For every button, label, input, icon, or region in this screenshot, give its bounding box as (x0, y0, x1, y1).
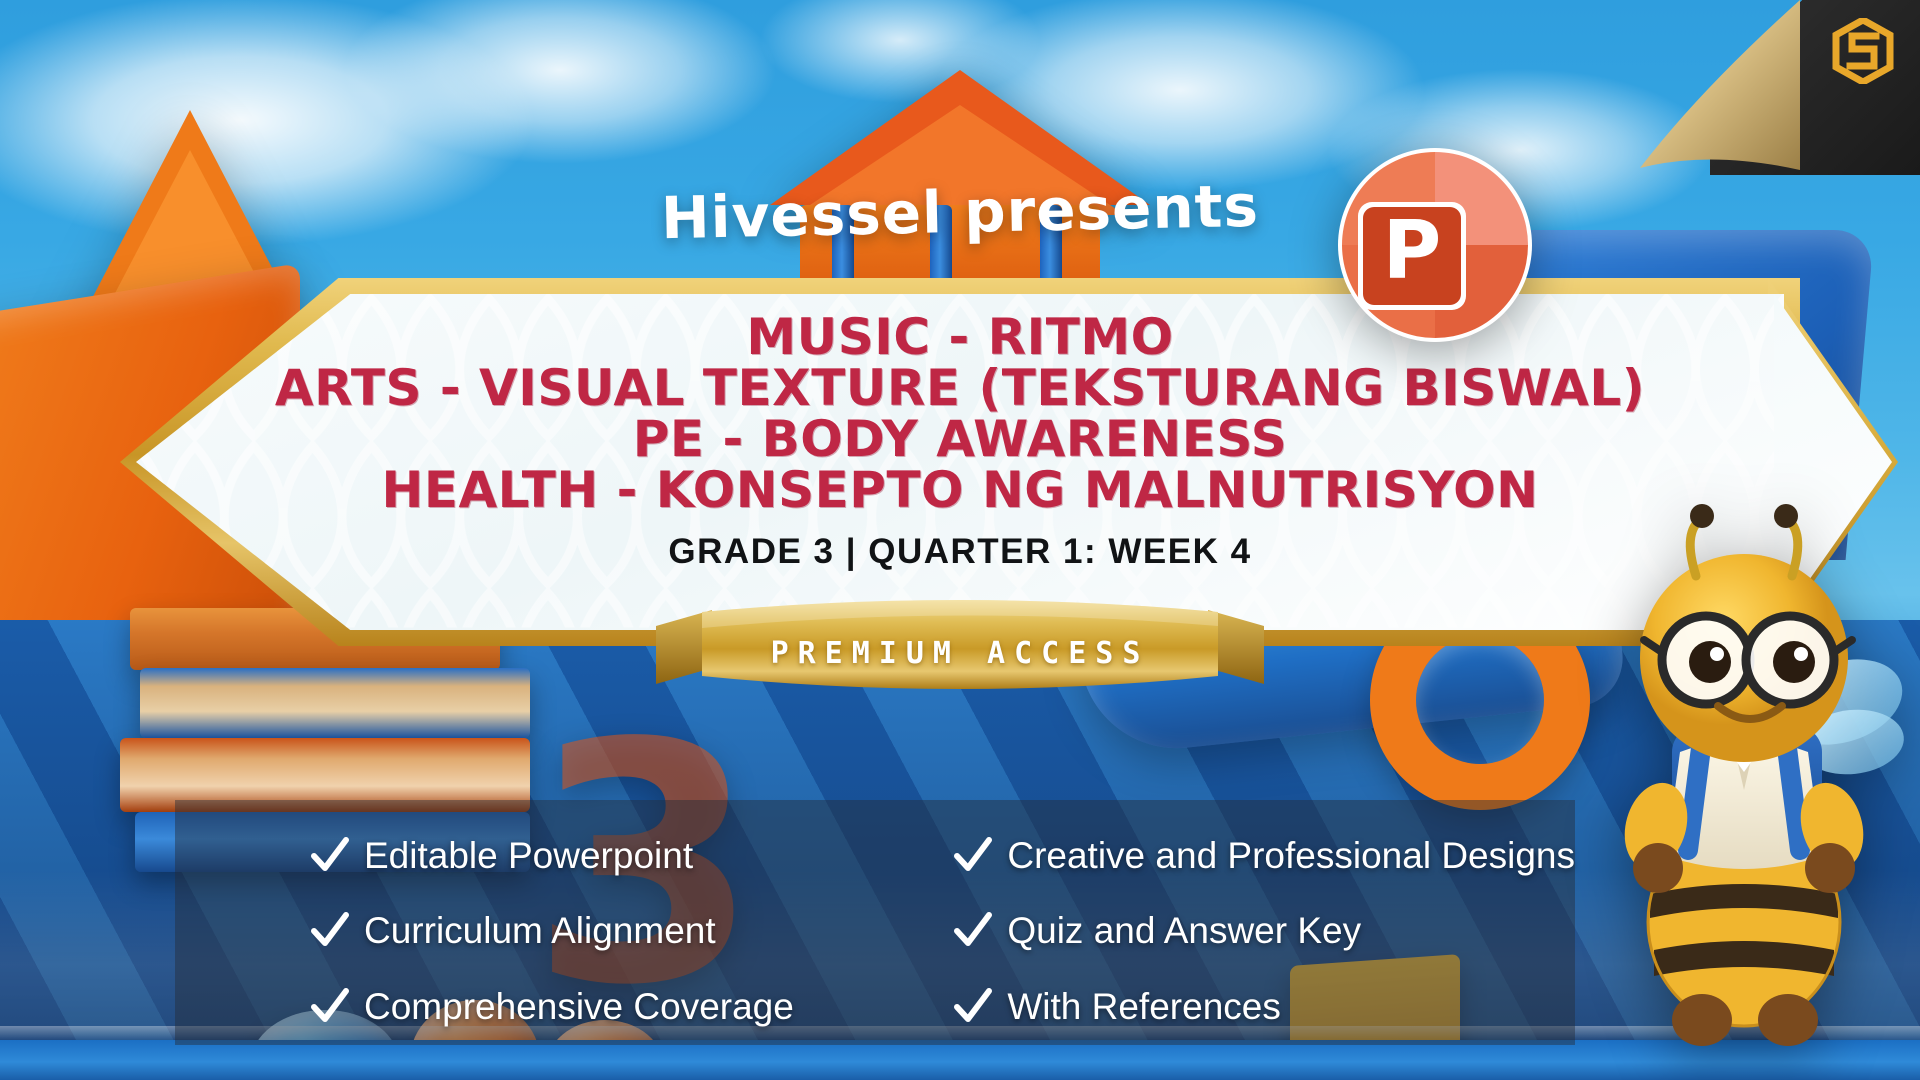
check-icon (310, 911, 350, 951)
feature-label: Quiz and Answer Key (1007, 910, 1361, 952)
page-curl-decor (1640, 0, 1800, 170)
feature-item: Curriculum Alignment (310, 900, 923, 962)
features-column-left: Editable Powerpoint Curriculum Alignment… (175, 800, 923, 1045)
title-line-arts: ARTS - VISUAL TEXTURE (TEKSTURANG BISWAL… (120, 363, 1800, 414)
book-decor (140, 668, 530, 738)
hexagon-s-logo-icon (1832, 18, 1894, 84)
features-panel: Editable Powerpoint Curriculum Alignment… (175, 800, 1575, 1045)
features-column-right: Creative and Professional Designs Quiz a… (923, 800, 1575, 1045)
feature-item: Comprehensive Coverage (310, 976, 923, 1038)
check-icon (953, 987, 993, 1027)
feature-item: Creative and Professional Designs (953, 825, 1575, 887)
check-icon (953, 911, 993, 951)
title-line-music: MUSIC - RITMO (120, 312, 1800, 363)
grade-quarter-subtitle: GRADE 3 | QUARTER 1: WEEK 4 (120, 532, 1800, 572)
main-banner: MUSIC - RITMO ARTS - VISUAL TEXTURE (TEK… (120, 278, 1800, 646)
feature-item: Editable Powerpoint (310, 825, 923, 887)
feature-label: Curriculum Alignment (364, 910, 716, 952)
feature-label: Comprehensive Coverage (364, 986, 794, 1028)
banner-text-block: MUSIC - RITMO ARTS - VISUAL TEXTURE (TEK… (120, 312, 1800, 572)
feature-item: With References (953, 976, 1575, 1038)
promo-graphic: 3 Hivessel presents P (0, 0, 1920, 1080)
check-icon (310, 987, 350, 1027)
powerpoint-letter: P (1383, 204, 1442, 297)
bee-mascot (1584, 490, 1914, 1050)
title-line-health: HEALTH - KONSEPTO NG MALNUTRISYON (120, 465, 1800, 516)
premium-access-ribbon: PREMIUM ACCESS (640, 598, 1280, 708)
premium-access-label: PREMIUM ACCESS (640, 636, 1280, 671)
feature-label: Editable Powerpoint (364, 835, 693, 877)
feature-item: Quiz and Answer Key (953, 900, 1575, 962)
title-line-pe: PE - BODY AWARENESS (120, 414, 1800, 465)
powerpoint-icon: P (1330, 140, 1540, 350)
feature-label: With References (1007, 986, 1281, 1028)
check-icon (310, 836, 350, 876)
feature-label: Creative and Professional Designs (1007, 835, 1575, 877)
check-icon (953, 836, 993, 876)
